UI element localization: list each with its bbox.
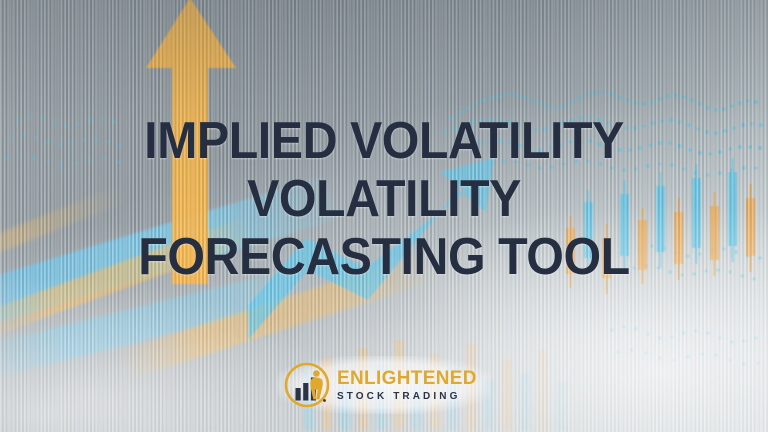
brand-text: ENLIGHTENED STOCK TRADING [337,368,481,403]
page-title: IMPLIED VOLATILITY VOLATILITY FORECASTIN… [0,112,768,286]
banner-image: IMPLIED VOLATILITY VOLATILITY FORECASTIN… [0,0,768,432]
title-line-3: FORECASTING TOOL [27,228,741,286]
brand-name: ENLIGHTENED [337,368,477,389]
enlightened-stock-trading-logo-mark-icon [283,361,331,409]
brand-logo[interactable]: ENLIGHTENED STOCK TRADING [277,356,491,414]
brand-tagline: STOCK TRADING [337,390,481,403]
title-line-1: IMPLIED VOLATILITY [27,112,741,170]
title-line-2: VOLATILITY [27,170,741,228]
